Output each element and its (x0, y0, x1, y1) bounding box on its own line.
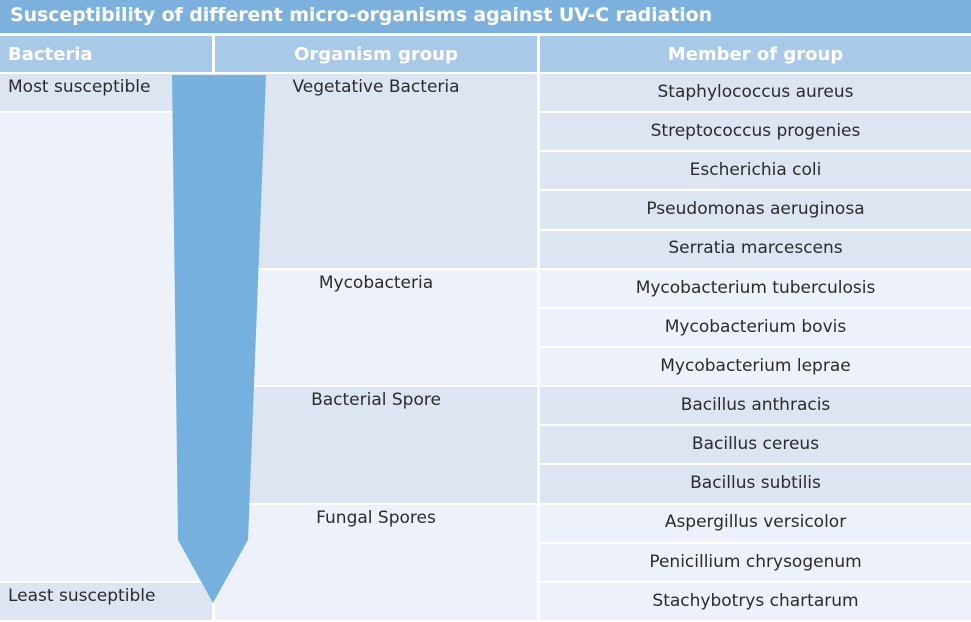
organism-group-cell: Bacterial Spore (215, 387, 537, 502)
organism-group-label: Fungal Spores (316, 505, 436, 529)
susceptibility-spacer-cell (0, 113, 212, 581)
member-of-group-cell: Stachybotrys chartarum (540, 583, 971, 620)
table-body: Vegetative BacteriaStaphylococcus aureus… (0, 74, 971, 622)
member-of-group-cell: Penicillium chrysogenum (540, 544, 971, 581)
member-of-group-cell: Pseudomonas aeruginosa (540, 191, 971, 228)
figure-title-bar: Susceptibility of different micro-organi… (0, 0, 971, 33)
member-of-group-cell: Mycobacterium leprae (540, 348, 971, 385)
organism-group-cell: Vegetative Bacteria (215, 74, 537, 268)
member-of-group-cell: Serratia marcescens (540, 231, 971, 268)
member-of-group-cell: Mycobacterium bovis (540, 309, 971, 346)
organism-group-cell: Mycobacteria (215, 270, 537, 385)
member-of-group-label: Penicillium chrysogenum (649, 553, 861, 573)
member-of-group-cell: Escherichia coli (540, 152, 971, 189)
most-susceptible-cell-label: Most susceptible (8, 74, 150, 98)
member-of-group-label: Bacillus subtilis (690, 474, 821, 494)
organism-group-label: Bacterial Spore (311, 387, 441, 411)
member-of-group-label: Mycobacterium bovis (665, 318, 846, 338)
member-of-group-label: Stachybotrys chartarum (652, 592, 858, 612)
table-figure: Susceptibility of different micro-organi… (0, 0, 971, 622)
member-of-group-cell: Bacillus anthracis (540, 387, 971, 424)
most-susceptible-cell: Most susceptible (0, 74, 212, 111)
member-of-group-label: Mycobacterium tuberculosis (636, 279, 876, 299)
column-header-organism-group: Organism group (215, 36, 537, 72)
member-of-group-label: Bacillus anthracis (681, 396, 831, 416)
member-of-group-label: Serratia marcescens (668, 239, 842, 259)
member-of-group-cell: Streptococcus progenies (540, 113, 971, 150)
organism-group-label: Mycobacteria (319, 270, 433, 294)
member-of-group-label: Mycobacterium leprae (660, 357, 850, 377)
member-of-group-cell: Staphylococcus aureus (540, 74, 971, 111)
member-of-group-label: Pseudomonas aeruginosa (646, 200, 864, 220)
organism-group-cell: Fungal Spores (215, 505, 537, 620)
least-susceptible-cell-label: Least susceptible (8, 583, 155, 607)
member-of-group-cell: Bacillus subtilis (540, 465, 971, 502)
member-of-group-cell: Aspergillus versicolor (540, 505, 971, 542)
member-of-group-cell: Mycobacterium tuberculosis (540, 270, 971, 307)
least-susceptible-cell: Least susceptible (0, 583, 212, 620)
table-header-row: Bacteria Organism group Member of group (0, 36, 971, 72)
page-title: Susceptibility of different micro-organi… (10, 4, 712, 26)
member-of-group-label: Bacillus cereus (692, 435, 819, 455)
member-of-group-label: Aspergillus versicolor (665, 513, 846, 533)
member-of-group-cell: Bacillus cereus (540, 426, 971, 463)
member-of-group-label: Streptococcus progenies (651, 122, 861, 142)
organism-group-label: Vegetative Bacteria (292, 74, 459, 98)
column-header-bacteria: Bacteria (0, 36, 212, 72)
member-of-group-label: Staphylococcus aureus (658, 83, 854, 103)
column-header-member-of-group: Member of group (540, 36, 971, 72)
member-of-group-label: Escherichia coli (690, 161, 822, 181)
